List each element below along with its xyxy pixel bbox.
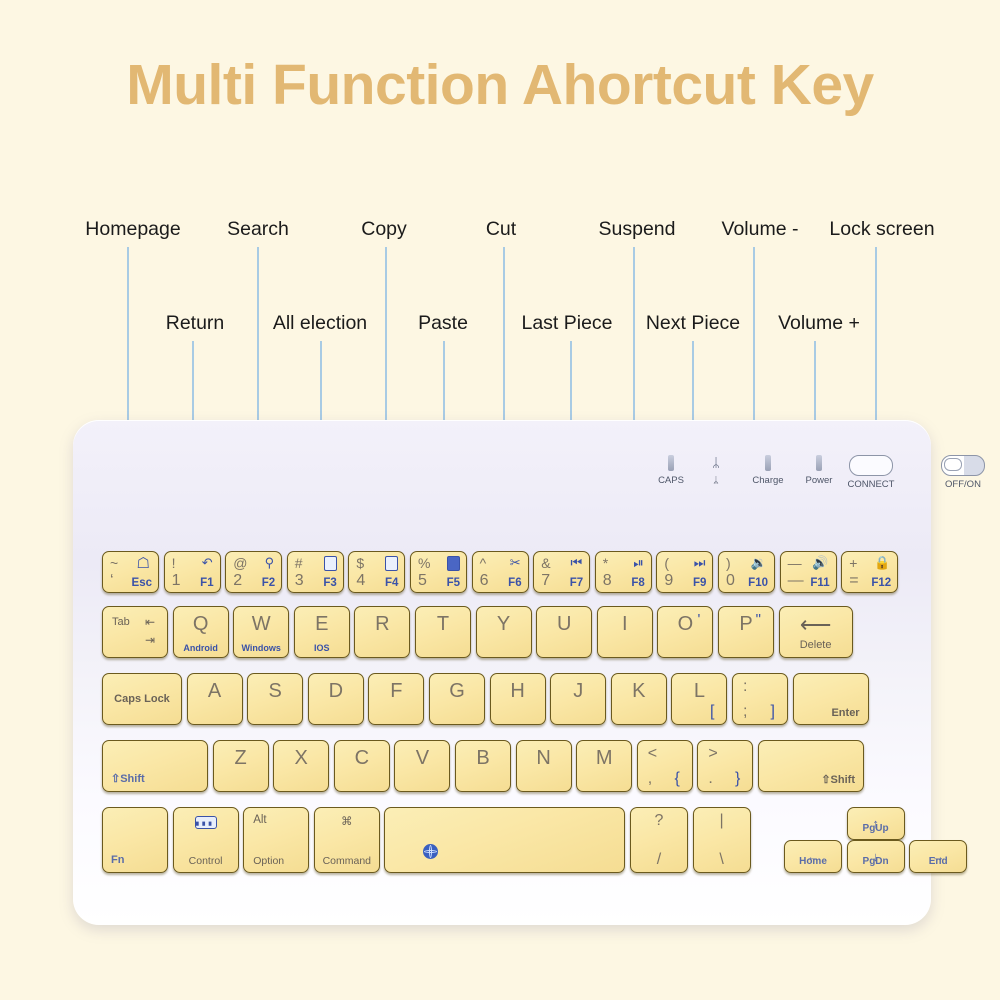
key-label: B bbox=[456, 747, 510, 770]
key-o[interactable]: O' bbox=[657, 606, 713, 658]
key-fn[interactable]: Fn bbox=[102, 807, 168, 873]
key-label: S bbox=[248, 680, 302, 703]
key-label: A bbox=[188, 680, 242, 703]
indicator-bluetooth: ᛦᛦ bbox=[686, 455, 746, 486]
key-label: D bbox=[309, 680, 363, 703]
power-toggle[interactable] bbox=[941, 455, 985, 476]
key-fn-label: F12 bbox=[871, 577, 891, 589]
key-q[interactable]: QAndroid bbox=[173, 606, 229, 658]
key-label: Q bbox=[174, 613, 228, 636]
key-alt-legend: [ bbox=[710, 703, 714, 721]
key-top-legend: : bbox=[743, 678, 747, 696]
callout-label-return: Return bbox=[166, 312, 225, 335]
key-f3[interactable]: #3F3 bbox=[287, 551, 344, 593]
key-down-arrow[interactable]: ↓PgDn bbox=[847, 840, 905, 873]
key-top-legend: * bbox=[603, 555, 608, 571]
key-fn-label: F11 bbox=[810, 577, 829, 589]
key-label: ⇧Shift bbox=[111, 772, 145, 785]
key-label: V bbox=[395, 747, 449, 770]
key-alt-legend: ] bbox=[771, 703, 775, 721]
key-m[interactable]: M bbox=[576, 740, 632, 792]
key-top-legend: Alt bbox=[244, 814, 308, 826]
key-label: H bbox=[491, 680, 545, 703]
key-label: W bbox=[234, 613, 288, 636]
key-label: R bbox=[355, 613, 409, 636]
key-top-legend: | bbox=[694, 812, 750, 830]
play-pause-icon: ⏯ bbox=[633, 555, 643, 571]
key-number: 8 bbox=[603, 572, 612, 590]
callout-label-volume: Volume + bbox=[778, 312, 860, 335]
key-label: T bbox=[416, 613, 470, 636]
key-tab[interactable]: Tab⇤⇥ bbox=[102, 606, 168, 658]
key-s[interactable]: S bbox=[247, 673, 303, 725]
key-number: ‘ bbox=[110, 572, 114, 590]
key-bottom-legend: / bbox=[631, 851, 687, 869]
key-enter[interactable]: Enter bbox=[793, 673, 869, 725]
connect-button[interactable] bbox=[849, 455, 893, 476]
key-bottom-legend: . bbox=[708, 770, 712, 788]
key-fn-label: F10 bbox=[748, 577, 768, 589]
key-comma[interactable]: <,{ bbox=[637, 740, 693, 792]
indicator-label: CONNECT bbox=[841, 479, 901, 490]
key-top-legend: % bbox=[418, 555, 430, 571]
key-label: C bbox=[335, 747, 389, 770]
paste-icon bbox=[447, 556, 460, 571]
key-label: End bbox=[910, 856, 966, 867]
page-title: Multi Function Ahortcut Key bbox=[0, 52, 1000, 118]
key-f[interactable]: F bbox=[368, 673, 424, 725]
key-caps-lock[interactable]: Caps Lock bbox=[102, 673, 182, 725]
key-n[interactable]: N bbox=[516, 740, 572, 792]
callout-label-lock-screen: Lock screen bbox=[829, 218, 934, 241]
key-label: Fn bbox=[111, 854, 124, 866]
key-g[interactable]: G bbox=[429, 673, 485, 725]
key-top-legend: + bbox=[849, 555, 857, 571]
key-fn-label: F6 bbox=[508, 577, 521, 589]
key-label: L bbox=[672, 680, 726, 703]
key-f12[interactable]: +🔒=F12 bbox=[841, 551, 898, 593]
key-label: G bbox=[430, 680, 484, 703]
copy-icon bbox=[385, 556, 398, 571]
key-f8[interactable]: *⏯8F8 bbox=[595, 551, 652, 593]
key-label: J bbox=[551, 680, 605, 703]
key-top-legend: ! bbox=[172, 555, 176, 571]
key-number: — bbox=[788, 572, 804, 590]
key-b[interactable]: B bbox=[455, 740, 511, 792]
callout-label-volume: Volume - bbox=[722, 218, 799, 241]
key-bottom-legend: , bbox=[648, 770, 652, 788]
key-period[interactable]: >.} bbox=[697, 740, 753, 792]
key-label: Command bbox=[315, 855, 379, 867]
key-alt-legend: " bbox=[756, 611, 761, 628]
key-z[interactable]: Z bbox=[213, 740, 269, 792]
led-charge bbox=[765, 455, 771, 471]
key-sublabel: Android bbox=[174, 643, 228, 653]
key-label: ⇧Shift bbox=[821, 773, 855, 786]
key-top-legend: $ bbox=[356, 555, 364, 571]
key-fn-label: F5 bbox=[447, 577, 460, 589]
previous-track-icon: ⏮ bbox=[570, 555, 582, 571]
key-number: 4 bbox=[356, 572, 365, 590]
callout-label-search: Search bbox=[227, 218, 289, 241]
return-icon: ↶ bbox=[202, 555, 213, 571]
callout-label-cut: Cut bbox=[486, 218, 516, 241]
key-fn-label: F7 bbox=[570, 577, 583, 589]
key-sublabel: Windows bbox=[234, 643, 288, 653]
key-w[interactable]: WWindows bbox=[233, 606, 289, 658]
key-label: P bbox=[719, 613, 773, 636]
key-backslash[interactable]: |\ bbox=[693, 807, 751, 873]
key-top-legend: > bbox=[708, 745, 717, 763]
key-label: X bbox=[274, 747, 328, 770]
key-right-shift[interactable]: ⇧Shift bbox=[758, 740, 864, 792]
key-x[interactable]: X bbox=[273, 740, 329, 792]
key-f6[interactable]: ^✂6F6 bbox=[472, 551, 529, 593]
callout-label-all-election: All election bbox=[273, 312, 367, 335]
key-label: Home bbox=[785, 856, 841, 867]
key-number: 5 bbox=[418, 572, 427, 590]
key-l[interactable]: L[ bbox=[671, 673, 727, 725]
led-caps bbox=[668, 455, 674, 471]
indicator-label: OFF/ON bbox=[933, 479, 993, 490]
key-label: Control bbox=[174, 855, 238, 867]
key-a[interactable]: A bbox=[187, 673, 243, 725]
key-number: 7 bbox=[541, 572, 550, 590]
key-i[interactable]: I bbox=[597, 606, 653, 658]
key-f7[interactable]: &⏮7F7 bbox=[533, 551, 590, 593]
key-number: 0 bbox=[726, 572, 735, 590]
key-up-arrow[interactable]: ↑PgUp bbox=[847, 807, 905, 840]
key-number: 1 bbox=[172, 572, 181, 590]
callout-label-last-piece: Last Piece bbox=[521, 312, 612, 335]
tab-right-arrow-icon: ⇥ bbox=[145, 633, 155, 647]
callout-label-next-piece: Next Piece bbox=[646, 312, 740, 335]
key-label: U bbox=[537, 613, 591, 636]
lock-icon: 🔒 bbox=[874, 555, 890, 571]
key-label: Caps Lock bbox=[103, 693, 181, 705]
key-label: PgUp bbox=[848, 823, 904, 834]
select-all-icon bbox=[324, 556, 337, 571]
key-c[interactable]: C bbox=[334, 740, 390, 792]
key-fn-label: F9 bbox=[693, 577, 706, 589]
indicator-label: Power bbox=[789, 475, 849, 486]
callout-label-copy: Copy bbox=[361, 218, 407, 241]
key-f2[interactable]: @⚲2F2 bbox=[225, 551, 282, 593]
key-top-legend: # bbox=[295, 555, 303, 571]
key-label: K bbox=[612, 680, 666, 703]
key-top-legend: — bbox=[788, 555, 802, 571]
key-label: Z bbox=[214, 747, 268, 770]
tab-left-arrow-icon: ⇤ bbox=[145, 615, 155, 629]
key-number: 3 bbox=[295, 572, 304, 590]
key-e[interactable]: EIOS bbox=[294, 606, 350, 658]
key-top-legend: ( bbox=[664, 555, 669, 571]
keyboard-device: CAPSᛦᛦChargePowerCONNECTOFF/ON ~☖‘Esc!↶1… bbox=[73, 420, 931, 925]
key-esc[interactable]: ~☖‘Esc bbox=[102, 551, 159, 593]
key-bottom-legend: ; bbox=[743, 703, 747, 721]
callout-label-suspend: Suspend bbox=[599, 218, 676, 241]
key-number: 6 bbox=[480, 572, 489, 590]
key-y[interactable]: Y bbox=[476, 606, 532, 658]
indicator-off-on[interactable]: OFF/ON bbox=[933, 455, 993, 490]
key-label: Option bbox=[244, 855, 308, 867]
key-p[interactable]: P" bbox=[718, 606, 774, 658]
key-fn-label: F4 bbox=[385, 577, 398, 589]
indicator-label: ᛦ bbox=[686, 475, 746, 486]
key-top-legend: ^ bbox=[480, 555, 487, 571]
indicator-connect[interactable]: CONNECT bbox=[841, 455, 901, 490]
key-t[interactable]: T bbox=[415, 606, 471, 658]
key-space[interactable] bbox=[384, 807, 625, 873]
key-top-legend: ) bbox=[726, 555, 731, 571]
volume-down-icon: 🔉 bbox=[751, 555, 767, 571]
key-label: F bbox=[369, 680, 423, 703]
key-f10[interactable]: )🔉0F10 bbox=[718, 551, 775, 593]
key-f4[interactable]: $4F4 bbox=[348, 551, 405, 593]
key-fn-label: F8 bbox=[631, 577, 644, 589]
key-f5[interactable]: %5F5 bbox=[410, 551, 467, 593]
key-control[interactable]: ▖▖▖Control bbox=[173, 807, 239, 873]
key-top-legend: ? bbox=[631, 812, 687, 830]
key-alt-legend: { bbox=[674, 770, 679, 788]
key-semicolon[interactable]: :;] bbox=[732, 673, 788, 725]
key-f1[interactable]: !↶1F1 bbox=[164, 551, 221, 593]
scissors-icon: ✂ bbox=[510, 555, 521, 571]
key-r[interactable]: R bbox=[354, 606, 410, 658]
key-command[interactable]: ⌘Command bbox=[314, 807, 380, 873]
key-label: Delete bbox=[780, 639, 852, 651]
home-icon: ☖ bbox=[137, 556, 150, 571]
key-u[interactable]: U bbox=[536, 606, 592, 658]
key-right-arrow[interactable]: →End bbox=[909, 840, 967, 873]
keyboard-icon: ▖▖▖ bbox=[195, 816, 217, 829]
key-d[interactable]: D bbox=[308, 673, 364, 725]
callout-label-paste: Paste bbox=[418, 312, 468, 335]
key-f9[interactable]: (⏭9F9 bbox=[656, 551, 713, 593]
key-label: PgDn bbox=[848, 856, 904, 867]
key-label: Y bbox=[477, 613, 531, 636]
key-left-shift[interactable]: ⇧Shift bbox=[102, 740, 208, 792]
key-j[interactable]: J bbox=[550, 673, 606, 725]
key-label: M bbox=[577, 747, 631, 770]
key-h[interactable]: H bbox=[490, 673, 546, 725]
key-number: 9 bbox=[664, 572, 673, 590]
key-f11[interactable]: —🔊—F11 bbox=[780, 551, 837, 593]
volume-up-icon: 🔊 bbox=[812, 555, 828, 571]
key-bottom-legend: \ bbox=[694, 851, 750, 869]
key-alt-legend: ' bbox=[698, 611, 701, 628]
key-fn-label: Esc bbox=[132, 577, 152, 589]
key-label: I bbox=[598, 613, 652, 636]
key-fn-label: F1 bbox=[200, 577, 213, 589]
led-power bbox=[816, 455, 822, 471]
key-top-legend: @ bbox=[233, 555, 247, 571]
key-label: N bbox=[517, 747, 571, 770]
indicator-power: Power bbox=[789, 455, 849, 486]
key-fn-label: F3 bbox=[323, 577, 336, 589]
key-label: Enter bbox=[831, 707, 859, 719]
bluetooth-icon: ᛦ bbox=[686, 455, 746, 471]
callout-label-homepage: Homepage bbox=[85, 218, 180, 241]
key-k[interactable]: K bbox=[611, 673, 667, 725]
key-left-arrow[interactable]: ←Home bbox=[784, 840, 842, 873]
key-delete[interactable]: ⟵Delete bbox=[779, 606, 853, 658]
key-sublabel: IOS bbox=[295, 643, 349, 653]
key-number: = bbox=[849, 572, 858, 590]
key-label: E bbox=[295, 613, 349, 636]
key-number: 2 bbox=[233, 572, 242, 590]
key-alt-legend: } bbox=[735, 770, 740, 788]
key-top-legend: ~ bbox=[110, 555, 118, 571]
key-label: O bbox=[658, 613, 712, 636]
key-slash[interactable]: ?/ bbox=[630, 807, 688, 873]
key-top-legend: < bbox=[648, 745, 657, 763]
key-top-legend: & bbox=[541, 555, 550, 571]
next-track-icon: ⏭ bbox=[694, 555, 706, 571]
globe-icon bbox=[423, 844, 438, 859]
key-option[interactable]: AltOption bbox=[243, 807, 309, 873]
backspace-arrow-icon: ⟵ bbox=[780, 619, 852, 631]
command-icon: ⌘ bbox=[315, 814, 379, 828]
search-icon: ⚲ bbox=[265, 555, 275, 571]
key-label: Tab bbox=[112, 616, 130, 628]
indicator-strip: CAPSᛦᛦChargePowerCONNECTOFF/ON bbox=[613, 455, 913, 505]
key-v[interactable]: V bbox=[394, 740, 450, 792]
key-fn-label: F2 bbox=[262, 577, 275, 589]
